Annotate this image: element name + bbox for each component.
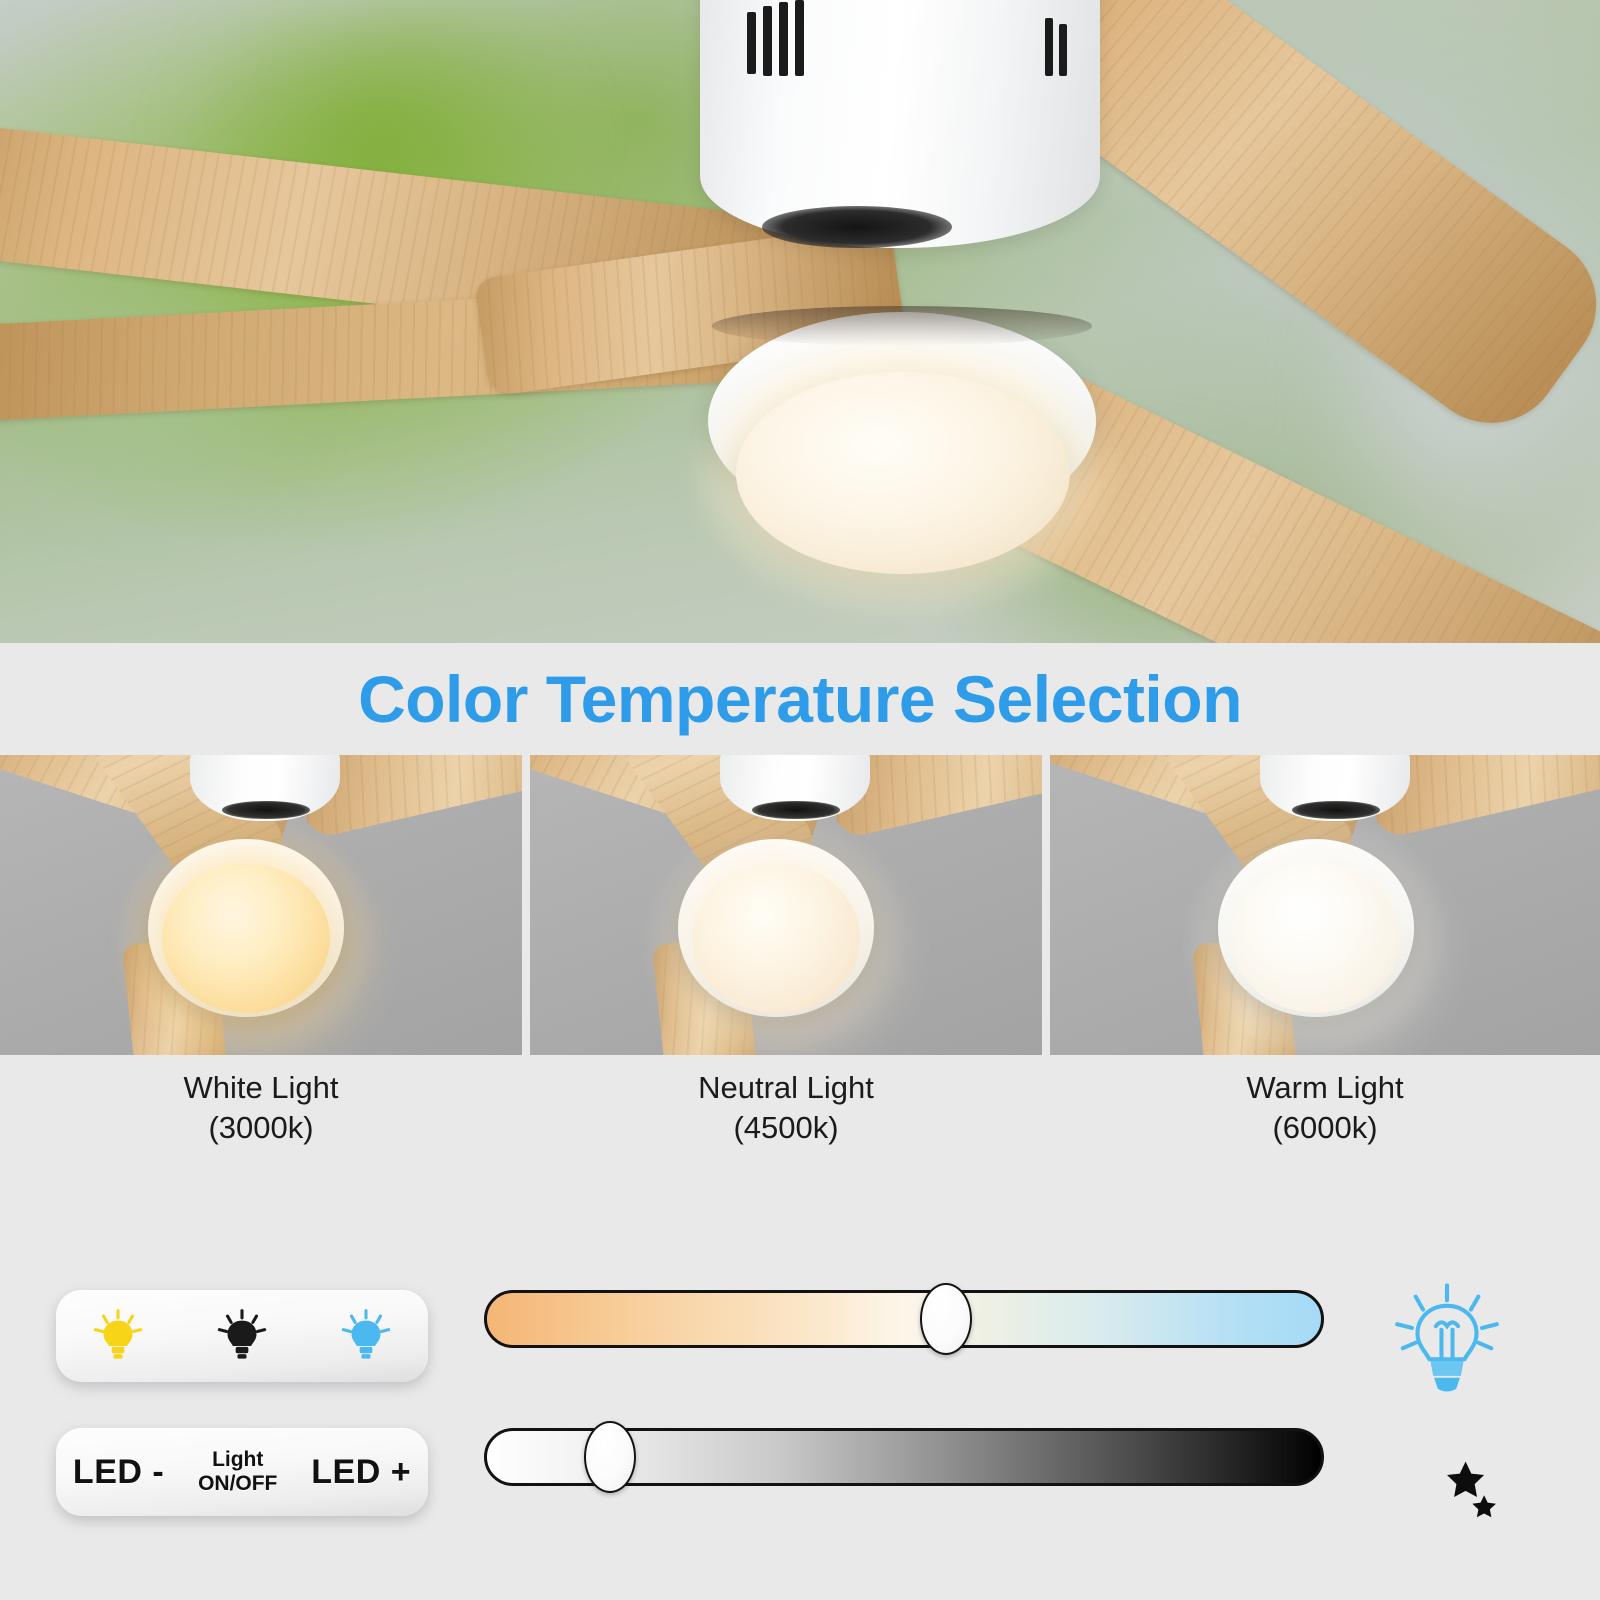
light-mode-captions: White Light (3000k) Neutral Light (4500k…	[0, 1068, 1600, 1183]
bulb-icon-black	[213, 1307, 271, 1365]
caption-name: White Light	[183, 1070, 338, 1105]
led-fixture-top-shadow	[712, 306, 1092, 346]
bulb-icon-yellow	[89, 1307, 147, 1365]
product-infographic: Color Temperature Selection	[0, 0, 1600, 1600]
color-mode-button-group[interactable]	[56, 1290, 428, 1382]
moon-star-icon-wrapper	[1372, 1416, 1522, 1534]
hero-product-photo	[0, 0, 1600, 643]
thumb-fixture-diffuser-warm	[162, 863, 330, 1013]
light-onoff-line1: Light	[198, 1448, 277, 1472]
caption-kelvin: (4500k)	[530, 1108, 1042, 1148]
light-mode-panels	[0, 755, 1600, 1055]
caption-white-light: White Light (3000k)	[0, 1068, 522, 1149]
brightness-knob[interactable]	[584, 1421, 636, 1493]
led-minus-button[interactable]: LED -	[73, 1453, 164, 1492]
led-button-group[interactable]: LED - Light ON/OFF LED +	[56, 1428, 428, 1516]
light-onoff-line2: ON/OFF	[198, 1472, 277, 1496]
bulb-button-yellow[interactable]	[82, 1300, 154, 1372]
brightness-slider[interactable]	[484, 1428, 1324, 1486]
page-title: Color Temperature Selection	[358, 666, 1242, 732]
thumb-motor-shadow	[222, 801, 310, 819]
thumb-motor-shadow	[752, 801, 840, 819]
light-mode-panel-white[interactable]	[0, 755, 522, 1055]
caption-warm-light: Warm Light (6000k)	[1050, 1068, 1600, 1149]
moon-star-icon	[1393, 1421, 1501, 1529]
led-plus-button[interactable]: LED +	[311, 1453, 411, 1492]
remote-controls-section: LED - Light ON/OFF LED +	[0, 1190, 1600, 1600]
motor-vent-slot	[747, 12, 756, 74]
section-title-band: Color Temperature Selection	[0, 643, 1600, 755]
caption-name: Warm Light	[1246, 1070, 1403, 1105]
thumb-fixture-diffuser-cool	[1232, 863, 1400, 1013]
motor-underside-shadow	[762, 206, 952, 248]
motor-vent-slot	[795, 0, 804, 76]
led-fixture-diffuser	[736, 372, 1070, 574]
thumb-fixture-diffuser-neutral	[692, 863, 860, 1013]
bulb-button-blue[interactable]	[330, 1300, 402, 1372]
caption-kelvin: (3000k)	[0, 1108, 522, 1148]
lightbulb-outline-icon	[1388, 1280, 1506, 1398]
lightbulb-outline-icon-wrapper	[1372, 1264, 1522, 1414]
color-temperature-track[interactable]	[484, 1290, 1324, 1348]
motor-vent-slot	[1045, 18, 1053, 76]
caption-name: Neutral Light	[698, 1070, 874, 1105]
bulb-button-black[interactable]	[206, 1300, 278, 1372]
light-mode-panel-warm[interactable]	[1050, 755, 1600, 1055]
motor-vent-slot	[1059, 24, 1067, 76]
color-temperature-knob[interactable]	[920, 1283, 972, 1355]
bulb-icon-blue	[337, 1307, 395, 1365]
caption-neutral-light: Neutral Light (4500k)	[530, 1068, 1042, 1149]
light-onoff-button[interactable]: Light ON/OFF	[198, 1448, 277, 1495]
motor-vent-slot	[763, 6, 772, 76]
caption-kelvin: (6000k)	[1050, 1108, 1600, 1148]
light-mode-panel-neutral[interactable]	[530, 755, 1042, 1055]
thumb-motor-shadow	[1292, 801, 1380, 819]
motor-vent-slot	[779, 2, 788, 76]
color-temperature-slider[interactable]	[484, 1290, 1324, 1348]
